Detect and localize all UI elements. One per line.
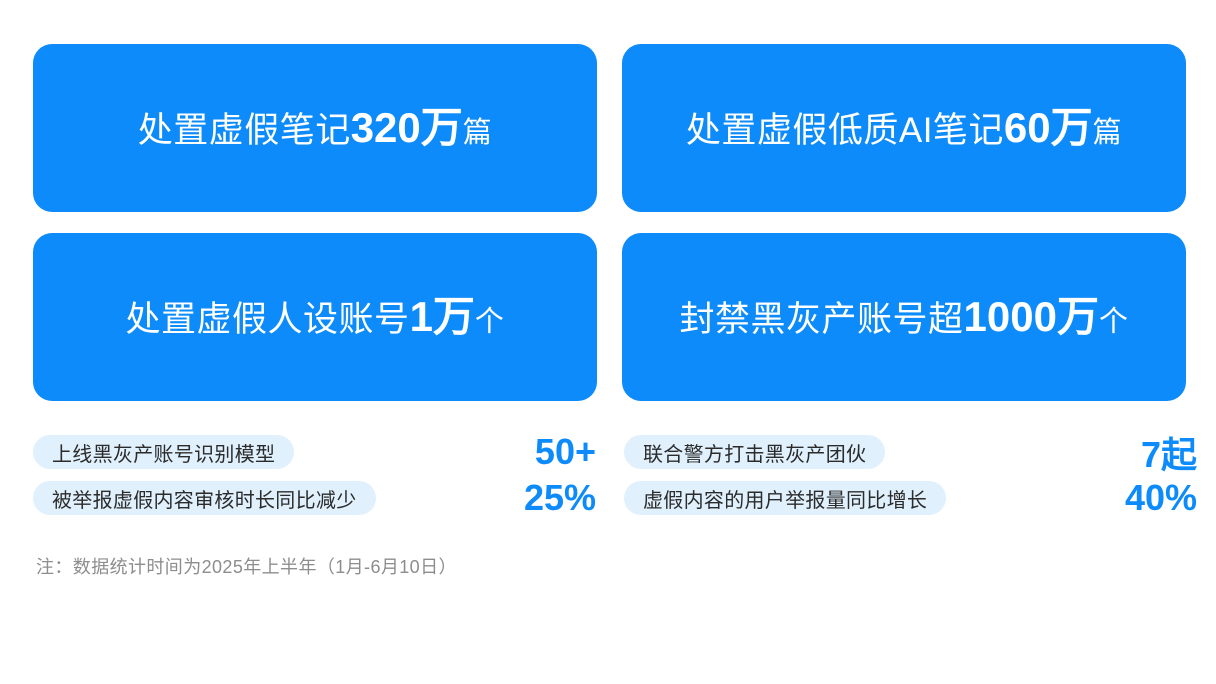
footnote: 注：数据统计时间为2025年上半年（1月-6月10日） (36, 553, 1186, 579)
stat-card-fake-notes: 处置虚假笔记320万篇 (33, 44, 597, 212)
mini-stats-column-right: 联合警方打击黑灰产团伙 7起 虚假内容的用户举报量同比增长 40% (622, 435, 1211, 515)
card-prefix: 处置虚假笔记 (138, 111, 351, 150)
mini-stat-value: 7起 (1141, 426, 1211, 478)
card-text: 处置虚假低质AI笔记60万篇 (686, 104, 1122, 152)
card-unit: 篇 (1093, 117, 1123, 149)
card-unit: 个 (1099, 306, 1129, 338)
mini-stat-label: 虚假内容的用户举报量同比增长 (624, 481, 946, 515)
mini-stat-value: 40% (1125, 477, 1211, 519)
mini-stat-row-police-joint-actions: 联合警方打击黑灰产团伙 7起 (624, 435, 1211, 469)
infographic-page: 处置虚假笔记320万篇 处置虚假低质AI笔记60万篇 处置虚假人设账号1万个 封… (0, 0, 1216, 684)
mini-stat-label: 联合警方打击黑灰产团伙 (624, 435, 885, 469)
mini-stats-column-left: 上线黑灰产账号识别模型 50+ 被举报虚假内容审核时长同比减少 25% (33, 435, 622, 515)
mini-stat-label: 上线黑灰产账号识别模型 (33, 435, 294, 469)
card-prefix: 处置虚假低质AI笔记 (686, 111, 1004, 150)
mini-stats-grid: 上线黑灰产账号识别模型 50+ 被举报虚假内容审核时长同比减少 25% 联合警方… (33, 435, 1186, 515)
card-unit: 篇 (463, 117, 493, 149)
card-number: 320万 (351, 104, 463, 151)
stat-card-low-quality-ai-notes: 处置虚假低质AI笔记60万篇 (622, 44, 1186, 212)
card-text: 处置虚假笔记320万篇 (138, 104, 493, 152)
mini-stat-row-review-time-reduced: 被举报虚假内容审核时长同比减少 25% (33, 481, 622, 515)
hero-cards-grid: 处置虚假笔记320万篇 处置虚假低质AI笔记60万篇 处置虚假人设账号1万个 封… (33, 44, 1186, 401)
card-prefix: 封禁黑灰产账号超 (680, 300, 964, 339)
card-unit: 个 (475, 306, 505, 338)
card-text: 处置虚假人设账号1万个 (126, 293, 505, 341)
mini-stat-label: 被举报虚假内容审核时长同比减少 (33, 481, 376, 515)
mini-stat-row-detection-models: 上线黑灰产账号识别模型 50+ (33, 435, 622, 469)
card-number: 1万 (410, 293, 475, 340)
mini-stat-row-user-reports-growth: 虚假内容的用户举报量同比增长 40% (624, 481, 1211, 515)
mini-stat-value: 50+ (535, 431, 622, 473)
stat-card-fake-persona-accounts: 处置虚假人设账号1万个 (33, 233, 597, 401)
card-prefix: 处置虚假人设账号 (126, 300, 410, 339)
card-number: 60万 (1004, 104, 1093, 151)
card-number: 1000万 (964, 293, 1099, 340)
stat-card-black-gray-accounts-banned: 封禁黑灰产账号超1000万个 (622, 233, 1186, 401)
card-text: 封禁黑灰产账号超1000万个 (680, 293, 1129, 341)
mini-stat-value: 25% (524, 477, 622, 519)
